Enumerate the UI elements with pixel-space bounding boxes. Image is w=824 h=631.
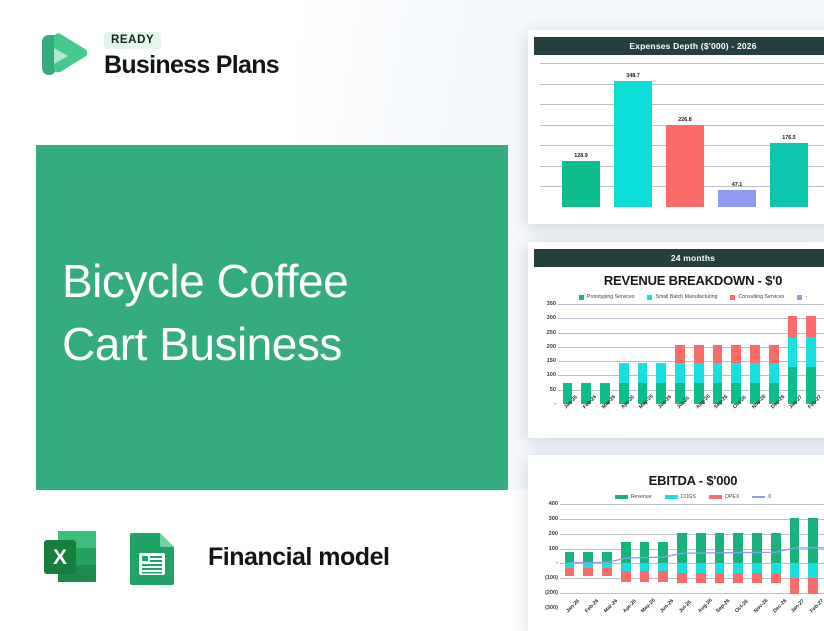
bar-segment <box>750 363 760 383</box>
bar <box>614 81 652 207</box>
y-axis-tick-label: - <box>554 401 556 407</box>
bar-segment <box>769 345 779 362</box>
bar-segment <box>675 363 685 383</box>
chart-card-revenue[interactable]: 24 months REVENUE BREAKDOWN - $'0 Protot… <box>528 242 824 438</box>
google-sheets-file-icon <box>118 523 186 591</box>
y-axis-tick-label: 200 <box>549 531 558 537</box>
revenue-y-axis: 35030025020015010050- <box>534 304 558 404</box>
gridline <box>558 390 824 391</box>
gridline <box>540 63 824 64</box>
gridline <box>558 375 824 376</box>
gridline <box>540 84 824 85</box>
brand-logo-block: READY Business Plans <box>38 28 279 82</box>
play-triangle-logo-icon <box>38 28 90 82</box>
y-axis-tick-label: 400 <box>549 501 558 507</box>
bar-segment <box>638 363 648 383</box>
bar-segment <box>656 363 666 383</box>
revenue-chart-legend: Prototyping ServicesSmall Batch Manufact… <box>534 288 824 300</box>
chart-card-ebitda[interactable]: EBITDA - $'000 RevenueCOGSOPEX0 40030020… <box>528 455 824 631</box>
brand-name: Business Plans <box>104 52 279 78</box>
y-axis-tick-label: 350 <box>547 301 556 307</box>
legend-swatch-icon <box>665 495 678 499</box>
legend-swatch-icon <box>797 295 802 300</box>
y-axis-tick-label: 300 <box>547 315 556 321</box>
excel-file-icon: X <box>36 523 104 591</box>
ebitda-plot: 400300200100-(100)(200)(300)Jan-26Feb-26… <box>534 500 824 631</box>
y-axis-tick-label: 250 <box>547 330 556 336</box>
bar-segment <box>806 316 816 337</box>
legend-swatch-icon <box>709 495 722 499</box>
ebitda-chart-legend: RevenueCOGSOPEX0 <box>534 488 824 500</box>
chart-card-expenses[interactable]: Expenses Depth ($'000) - 2026 128.9348.7… <box>528 30 824 224</box>
bar-segment <box>731 345 741 362</box>
ebitda-y-axis: 400300200100-(100)(200)(300) <box>534 504 560 608</box>
y-axis-tick-label: 150 <box>547 358 556 364</box>
bar-segment <box>788 316 798 337</box>
bar <box>562 161 600 207</box>
y-axis-tick-label: 50 <box>550 387 556 393</box>
bar-segment <box>619 363 629 383</box>
bar-segment <box>675 345 685 362</box>
expenses-chart-header: Expenses Depth ($'000) - 2026 <box>534 37 824 55</box>
bar-segment <box>694 345 704 362</box>
bar-segment <box>750 345 760 362</box>
bar-segment <box>694 363 704 383</box>
y-axis-tick-label: (100) <box>545 575 558 581</box>
bar-data-label: 47.1 <box>732 182 743 188</box>
gridline <box>558 304 824 305</box>
bar <box>666 125 704 207</box>
gridline <box>558 347 824 348</box>
brand-text-wrap: READY Business Plans <box>104 32 279 78</box>
y-axis-tick-label: (300) <box>545 605 558 611</box>
revenue-chart-title: REVENUE BREAKDOWN - $'0 <box>534 267 824 288</box>
y-axis-tick-label: 100 <box>547 372 556 378</box>
svg-text:X: X <box>53 546 67 569</box>
revenue-plot-area <box>558 304 824 404</box>
y-axis-tick-label: - <box>556 560 558 566</box>
bar-segment <box>788 337 798 367</box>
ebitda-plot-area <box>560 504 824 608</box>
bar <box>718 190 756 207</box>
y-axis-tick-label: (200) <box>545 590 558 596</box>
legend-swatch-icon <box>730 295 735 300</box>
expenses-plot: 128.9348.7226.847.1176.5 <box>534 55 824 215</box>
bar <box>770 143 808 207</box>
bar-data-label: 226.8 <box>678 117 692 123</box>
revenue-chart-subheader: 24 months <box>534 249 824 267</box>
ready-badge: READY <box>104 32 161 49</box>
expenses-plot-area: 128.9348.7226.847.1176.5 <box>540 63 824 207</box>
bar-segment <box>731 363 741 383</box>
bar-segment <box>713 345 723 362</box>
bar-segment <box>806 337 816 367</box>
footer-label: Financial model <box>208 543 389 572</box>
bar-data-label: 348.7 <box>626 73 640 79</box>
gridline <box>540 104 824 105</box>
y-axis-tick-label: 200 <box>547 344 556 350</box>
legend-swatch-icon <box>752 496 765 498</box>
gridline <box>558 333 824 334</box>
y-axis-tick-label: 100 <box>549 546 558 552</box>
hero-banner: Bicycle Coffee Cart Business <box>36 145 508 490</box>
legend-swatch-icon <box>579 295 584 300</box>
bar-data-label: 128.9 <box>574 153 588 159</box>
page-title: Bicycle Coffee Cart Business <box>62 250 348 375</box>
gridline <box>558 318 824 319</box>
zero-line-series <box>560 504 824 608</box>
footer-format-row: X Financial model <box>36 523 389 591</box>
revenue-plot: 35030025020015010050-Jan-26Feb-26Mar-26A… <box>534 300 824 428</box>
gridline <box>558 361 824 362</box>
ebitda-chart-title: EBITDA - $'000 <box>534 467 824 488</box>
legend-swatch-icon <box>647 295 652 300</box>
bar-segment <box>769 363 779 383</box>
y-axis-tick-label: 300 <box>549 516 558 522</box>
bar-data-label: 176.5 <box>782 135 796 141</box>
bar-segment <box>713 363 723 383</box>
legend-swatch-icon <box>615 495 628 499</box>
